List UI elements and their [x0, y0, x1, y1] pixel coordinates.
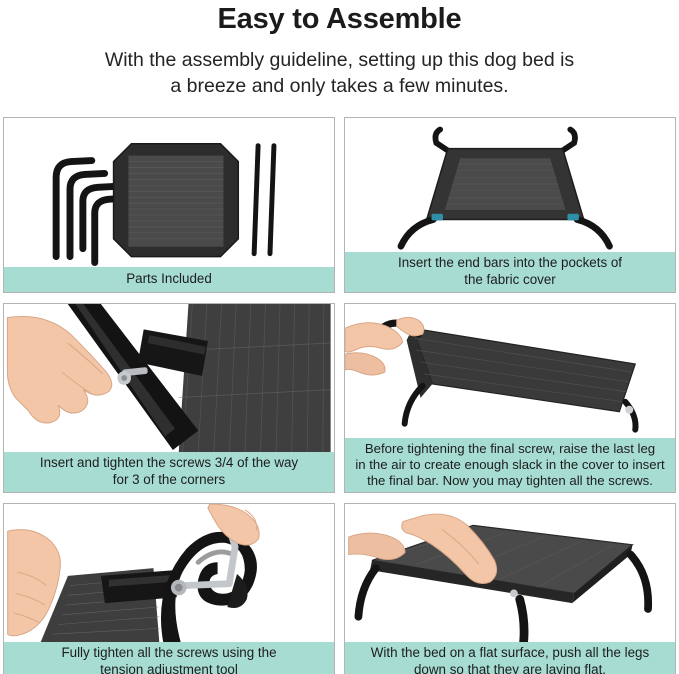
step-panel-push-legs-flat: With the bed on a flat surface, push all…	[344, 503, 676, 674]
step-panel-insert-end-bars: Insert the end bars into the pockets of …	[344, 117, 676, 293]
subtitle-line-2: a breeze and only takes a few minutes.	[0, 73, 679, 99]
end-cap	[625, 406, 633, 414]
caption-line: the final bar. Now you may tighten all t…	[351, 473, 669, 489]
caption-line: Insert the end bars into the pockets of	[351, 255, 669, 272]
step-image-raise-last-leg	[345, 304, 675, 438]
step-caption-raise-last-leg: Before tightening the final screw, raise…	[345, 438, 675, 492]
fabric-cover	[114, 144, 239, 257]
caption-line: in the air to create enough slack in the…	[351, 457, 669, 473]
caption-line: Fully tighten all the screws using the	[10, 645, 328, 662]
bed-mesh-top	[427, 149, 584, 220]
step-panel-tighten-screws-three-corners: Insert and tighten the screws 3/4 of the…	[3, 303, 335, 493]
step-image-tighten-screws-three-corners	[4, 304, 334, 452]
caption-line: Before tightening the final screw, raise…	[351, 441, 669, 457]
subtitle-line-1: With the assembly guideline, setting up …	[0, 47, 679, 73]
caption-line: Insert and tighten the screws 3/4 of the…	[10, 455, 328, 472]
step-image-insert-end-bars	[345, 118, 675, 252]
caption-line: down so that they are laying flat.	[351, 662, 669, 674]
mesh-fabric	[179, 304, 331, 452]
caption-line: the fabric cover	[351, 272, 669, 289]
step-caption-parts-included: Parts Included	[4, 267, 334, 293]
caption-line: for 3 of the corners	[10, 472, 328, 489]
step-caption-push-legs-flat: With the bed on a flat surface, push all…	[345, 642, 675, 674]
step-caption-tighten-screws-three-corners: Insert and tighten the screws 3/4 of the…	[4, 452, 334, 492]
step-image-fully-tighten-screws	[4, 504, 334, 642]
step-image-push-legs-flat	[345, 504, 675, 642]
screw-head	[510, 590, 518, 598]
caption-line: Parts Included	[10, 271, 328, 288]
caption-line: With the bed on a flat surface, push all…	[351, 645, 669, 662]
step-caption-fully-tighten-screws: Fully tighten all the screws using the t…	[4, 642, 334, 674]
step-panel-parts-included: Parts Included	[3, 117, 335, 293]
page-title: Easy to Assemble	[0, 2, 679, 36]
step-panel-raise-last-leg: Before tightening the final screw, raise…	[344, 303, 676, 493]
page-subtitle: With the assembly guideline, setting up …	[0, 47, 679, 99]
step-caption-insert-end-bars: Insert the end bars into the pockets of …	[345, 252, 675, 292]
caption-line: tension adjustment tool	[10, 662, 328, 674]
assembly-infographic: Easy to Assemble With the assembly guide…	[0, 0, 679, 674]
screw-bolt	[171, 580, 187, 596]
steps-grid: Parts Included	[3, 117, 676, 671]
step-panel-fully-tighten-screws: Fully tighten all the screws using the t…	[3, 503, 335, 674]
step-image-parts-included	[4, 118, 334, 267]
header: Easy to Assemble With the assembly guide…	[0, 0, 679, 99]
